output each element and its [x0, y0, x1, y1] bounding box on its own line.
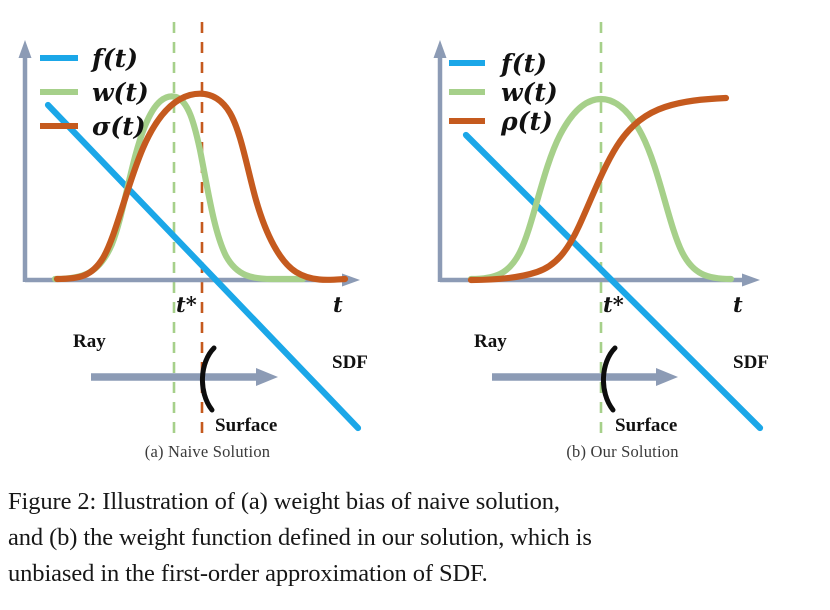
- legend-label-rho-b: ρ(t): [500, 107, 553, 136]
- tick-label-tstar-b: t*: [603, 292, 624, 317]
- figure-caption-line-3: unbiased in the first-order approximatio…: [8, 556, 820, 592]
- legend-label-w-b: w(t): [501, 78, 558, 107]
- tick-label-tstar-a: t*: [176, 292, 197, 317]
- annotation-sdf-a: SDF: [332, 352, 368, 373]
- legend-a: f(t) w(t) σ(t): [40, 44, 149, 141]
- subcaption-a: (a) Naive Solution: [0, 442, 415, 462]
- axis-label-x-a: t: [333, 292, 343, 317]
- panel-our-solution: f(t) w(t) ρ(t) t* t Ray Su: [415, 0, 830, 478]
- figure-caption-line-2: and (b) the weight function defined in o…: [8, 520, 820, 556]
- legend-b: f(t) w(t) ρ(t): [449, 49, 558, 136]
- legend-label-w-a: w(t): [92, 78, 149, 107]
- chart-a-svg: f(t) w(t) σ(t) t* t Ray Su: [0, 0, 415, 448]
- axes-b: [434, 40, 761, 287]
- panel-naive-solution: f(t) w(t) σ(t) t* t Ray Su: [0, 0, 415, 478]
- figure-panels: f(t) w(t) σ(t) t* t Ray Su: [0, 0, 830, 478]
- ray-arrow-a: [91, 368, 278, 386]
- legend-label-f-a: f(t): [90, 44, 138, 73]
- legend-label-f-b: f(t): [499, 49, 547, 78]
- legend-label-sigma-a: σ(t): [92, 112, 146, 141]
- axis-label-x-b: t: [733, 292, 743, 317]
- figure-2-container: f(t) w(t) σ(t) t* t Ray Su: [0, 0, 830, 610]
- annotation-surface-b: Surface: [615, 415, 677, 436]
- subcaption-b: (b) Our Solution: [415, 442, 830, 462]
- figure-caption: Figure 2: Illustration of (a) weight bia…: [8, 484, 820, 592]
- figure-caption-line-1: Figure 2: Illustration of (a) weight bia…: [8, 484, 820, 520]
- annotation-surface-a: Surface: [215, 415, 277, 436]
- annotation-ray-a: Ray: [73, 331, 106, 352]
- annotation-sdf-b: SDF: [733, 352, 769, 373]
- chart-b-svg: f(t) w(t) ρ(t) t* t Ray Su: [415, 0, 830, 448]
- ray-arrow-b: [492, 368, 678, 386]
- annotation-ray-b: Ray: [474, 331, 507, 352]
